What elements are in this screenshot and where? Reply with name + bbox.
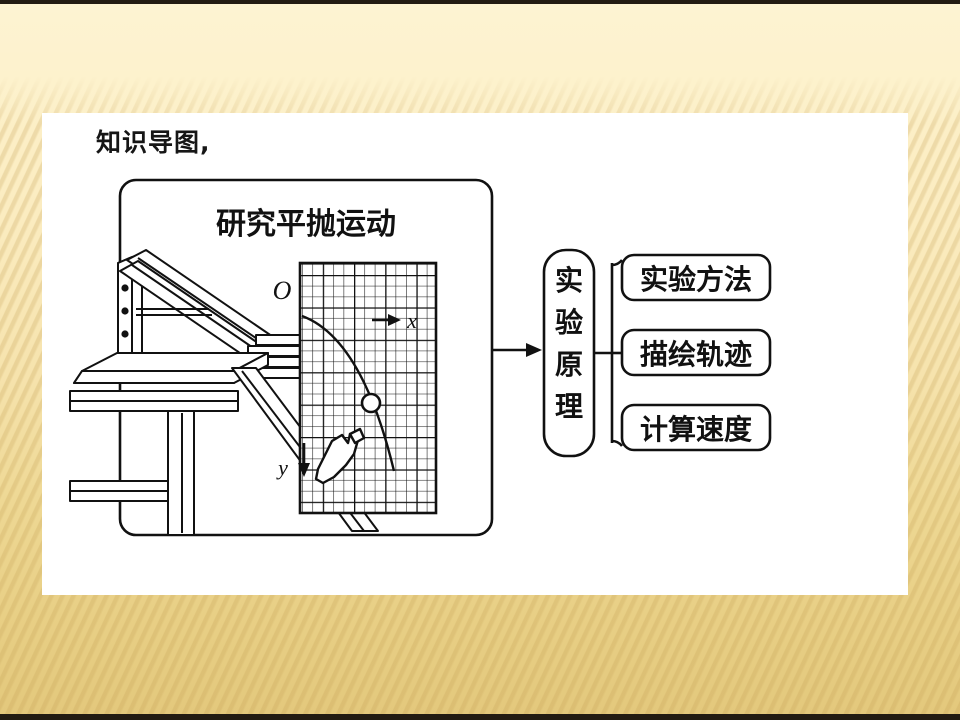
post-hole-2 (121, 307, 128, 314)
branch-box-1-label: 描绘轨迹 (640, 338, 752, 371)
principle-char-2: 验 (555, 306, 583, 339)
branch-box-2[interactable]: 计算速度 (622, 405, 770, 450)
presentation-slide: 知识导图, 研究平抛运动 (0, 0, 960, 720)
slide-top-border (0, 0, 960, 4)
principle-char-3: 原 (555, 348, 583, 381)
knowledge-map-diagram: 研究平抛运动 (42, 113, 908, 595)
content-card: 知识导图, 研究平抛运动 (42, 113, 908, 595)
branch-connectors (594, 260, 624, 446)
branch-box-0[interactable]: 实验方法 (622, 255, 770, 300)
post-hole-3 (121, 330, 128, 337)
diagram-svg: 研究平抛运动 (42, 113, 908, 595)
branch-box-0-label: 实验方法 (640, 263, 752, 296)
origin-label: O (273, 276, 292, 305)
branch-box-1[interactable]: 描绘轨迹 (622, 330, 770, 375)
slide-background-highlight (0, 4, 960, 124)
y-axis-label: y (276, 455, 288, 480)
branch-line-3 (612, 441, 622, 446)
arrow-to-principle (492, 343, 542, 357)
projectile-ball (362, 394, 380, 412)
slide-bottom-border (0, 714, 960, 720)
principle-char-4: 理 (555, 390, 583, 423)
branch-box-2-label: 计算速度 (640, 413, 752, 446)
principle-char-1: 实 (555, 264, 583, 297)
post-hole-1 (121, 284, 128, 291)
main-box-title: 研究平抛运动 (216, 207, 396, 242)
x-axis-label: x (406, 308, 417, 333)
branch-line-1 (612, 260, 622, 265)
